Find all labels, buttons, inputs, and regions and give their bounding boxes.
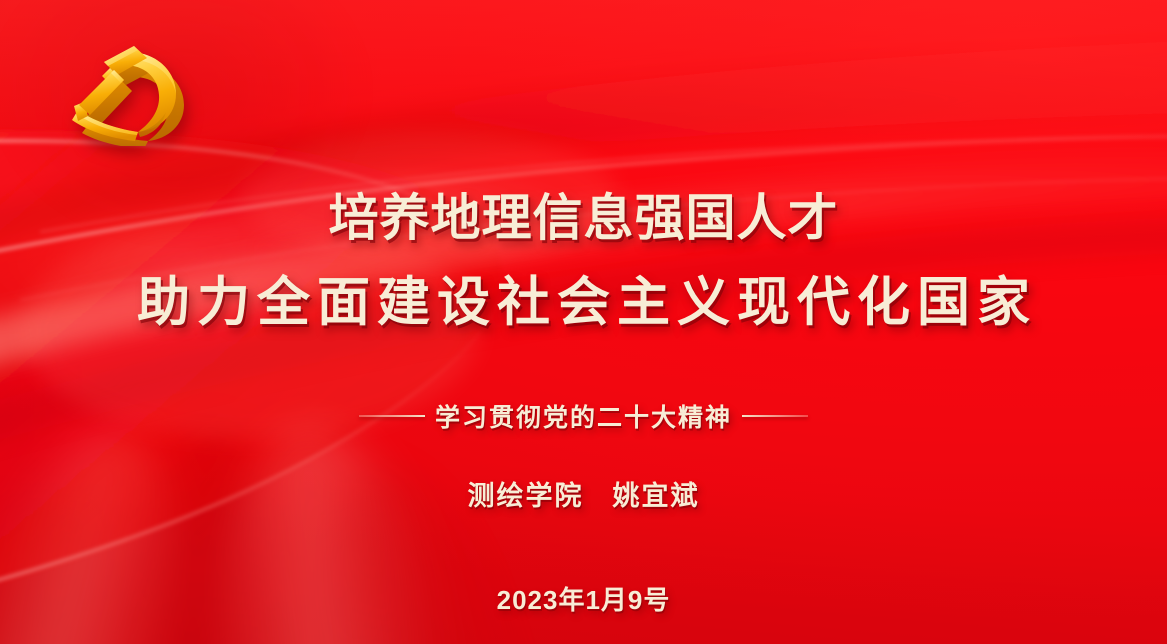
- subtitle-text: 学习贯彻党的二十大精神: [435, 398, 732, 434]
- slide-content: 培养地理信息强国人才 助力全面建设社会主义现代化国家 学习贯彻党的二十大精神 测…: [0, 0, 1167, 644]
- title-slide: 培养地理信息强国人才 助力全面建设社会主义现代化国家 学习贯彻党的二十大精神 测…: [0, 0, 1167, 644]
- subtitle-rule-left-icon: [359, 415, 425, 417]
- date-line: 2023年1月9号: [0, 580, 1167, 617]
- title-line-2: 助力全面建设社会主义现代化国家: [0, 275, 1167, 331]
- subtitle-rule-right-icon: [742, 415, 808, 417]
- title-line-1: 培养地理信息强国人才: [0, 192, 1167, 245]
- presenter-line: 测绘学院 姚宜斌: [0, 474, 1167, 513]
- subtitle-row: 学习贯彻党的二十大精神: [0, 398, 1167, 434]
